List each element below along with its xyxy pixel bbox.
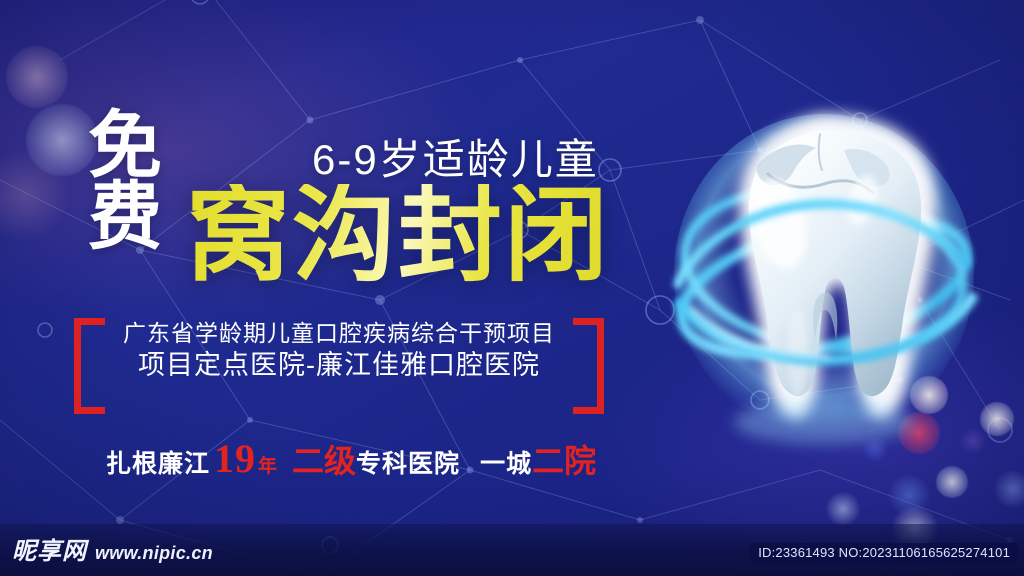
- tagline-prefix: 扎根廉江: [106, 444, 210, 480]
- tagline-years-unit: 年: [258, 451, 278, 478]
- footer-bar: 昵享网 www.nipic.cn ID:23361493 NO:20231106…: [0, 524, 1024, 576]
- molar-tooth-icon: [648, 104, 1000, 460]
- bracket-text: 广东省学龄期儿童口腔疾病综合干预项目 项目定点医院-廉江佳雅口腔医院: [108, 320, 570, 382]
- program-line-1: 广东省学龄期儿童口腔疾病综合干预项目: [108, 320, 570, 346]
- left-bracket-icon: [74, 318, 105, 414]
- asset-id-label: ID:23361493 NO:20231106165625274101: [750, 543, 1018, 562]
- main-title: 窝沟封闭: [186, 184, 610, 288]
- tagline-city: 一城: [480, 444, 532, 480]
- copy-block: 免 费 6-9岁适龄儿童 窝沟封闭 广东省学龄期儿童口腔疾病综合干预项目 项目定…: [0, 0, 640, 576]
- watermark-logo-text: 昵享网: [12, 531, 87, 566]
- free-char-2: 费: [88, 183, 184, 254]
- program-bracket-block: 广东省学龄期儿童口腔疾病综合干预项目 项目定点医院-廉江佳雅口腔医院: [74, 318, 604, 400]
- watermark: 昵享网 www.nipic.cn: [12, 531, 213, 566]
- watermark-url: www.nipic.cn: [95, 543, 213, 564]
- credentials-tagline: 扎根廉江 19 年 二级 专科医院 一城 二院: [106, 436, 596, 482]
- free-badge: 免 费: [88, 112, 184, 254]
- tagline-years-number: 19: [214, 439, 256, 479]
- tagline-grade-suffix: 专科医院: [356, 444, 460, 480]
- right-bracket-icon: [573, 318, 604, 414]
- free-char-1: 免: [88, 112, 184, 183]
- tagline-rank: 二院: [532, 436, 596, 482]
- tagline-grade: 二级: [292, 436, 356, 482]
- program-line-2: 项目定点医院-廉江佳雅口腔医院: [108, 349, 570, 381]
- poster-canvas: 免 费 6-9岁适龄儿童 窝沟封闭 广东省学龄期儿童口腔疾病综合干预项目 项目定…: [0, 0, 1024, 576]
